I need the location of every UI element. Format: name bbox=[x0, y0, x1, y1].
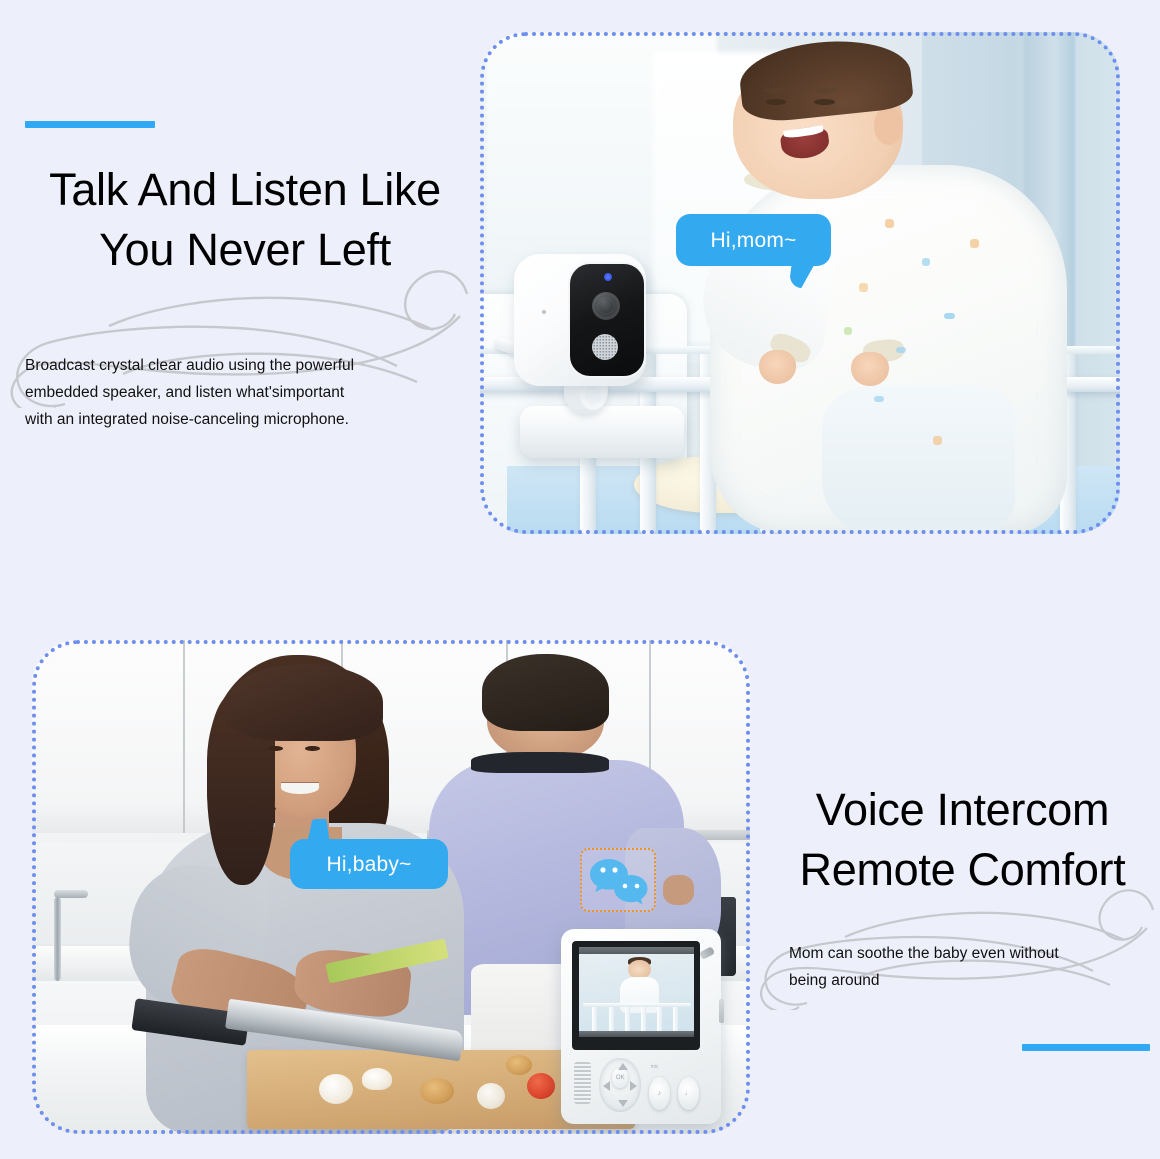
monitor-mic-label: mic bbox=[651, 1064, 659, 1070]
speech-bubble-baby-text: Hi,baby~ bbox=[326, 854, 411, 875]
section-2-body: Mom can soothe the baby even without bei… bbox=[789, 940, 1159, 994]
speech-bubble-mom: Hi,mom~ bbox=[676, 214, 831, 266]
monitor-right-icon bbox=[630, 1081, 637, 1091]
photo-frame-nursery: Hi,mom~ bbox=[480, 32, 1120, 534]
monitor-up-icon bbox=[618, 1063, 628, 1070]
monitor-side-button[interactable] bbox=[719, 999, 724, 1022]
monitor-speaker-grille bbox=[574, 1062, 592, 1105]
monitor-screen bbox=[579, 947, 694, 1037]
camera-base bbox=[520, 406, 684, 458]
monitor-ok-button[interactable]: OK bbox=[612, 1068, 628, 1089]
monitor-music-button[interactable]: ♪ bbox=[649, 1077, 670, 1110]
monitor-down-icon bbox=[618, 1100, 628, 1107]
onion-brown-2 bbox=[506, 1055, 532, 1075]
baby-figure bbox=[710, 42, 1081, 534]
feature-page: Talk And Listen Like You Never Left Broa… bbox=[0, 0, 1160, 1159]
speech-bubble-tail bbox=[304, 819, 329, 841]
chat-icon-box bbox=[580, 848, 656, 912]
onion-brown bbox=[420, 1078, 454, 1104]
kitchen-faucet bbox=[54, 897, 61, 981]
accent-bar-top bbox=[25, 121, 155, 128]
monitor-dpad[interactable]: OK bbox=[599, 1058, 641, 1113]
section-1-body: Broadcast crystal clear audio using the … bbox=[25, 352, 475, 433]
speech-bubble-mom-text: Hi,mom~ bbox=[711, 230, 797, 251]
wechat-chat-icon bbox=[582, 850, 654, 910]
section-2-heading: Voice Intercom Remote Comfort bbox=[770, 780, 1155, 900]
baby-monitor-device: OK mic ♪ ♩ bbox=[561, 929, 721, 1124]
monitor-left-icon bbox=[603, 1081, 610, 1091]
accent-bar-bottom bbox=[1022, 1044, 1150, 1051]
monitor-talk-button[interactable]: ♩ bbox=[678, 1077, 699, 1110]
camera-face bbox=[568, 262, 646, 378]
indoor-camera-device bbox=[502, 254, 702, 464]
monitor-antenna bbox=[699, 946, 715, 960]
onion-slice bbox=[362, 1068, 392, 1090]
monitor-screen-bezel bbox=[572, 941, 700, 1050]
camera-led-icon bbox=[604, 273, 612, 281]
photo-frame-kitchen: OK mic ♪ ♩ bbox=[32, 640, 750, 1134]
camera-lens-icon bbox=[592, 292, 620, 320]
section-1-heading: Talk And Listen Like You Never Left bbox=[10, 160, 480, 280]
nursery-photo: Hi,mom~ bbox=[480, 32, 1120, 534]
camera-microphone-icon bbox=[592, 334, 618, 360]
camera-status-dot bbox=[542, 310, 546, 314]
speech-bubble-baby: Hi,baby~ bbox=[290, 839, 448, 889]
kitchen-photo: OK mic ♪ ♩ bbox=[32, 640, 750, 1134]
